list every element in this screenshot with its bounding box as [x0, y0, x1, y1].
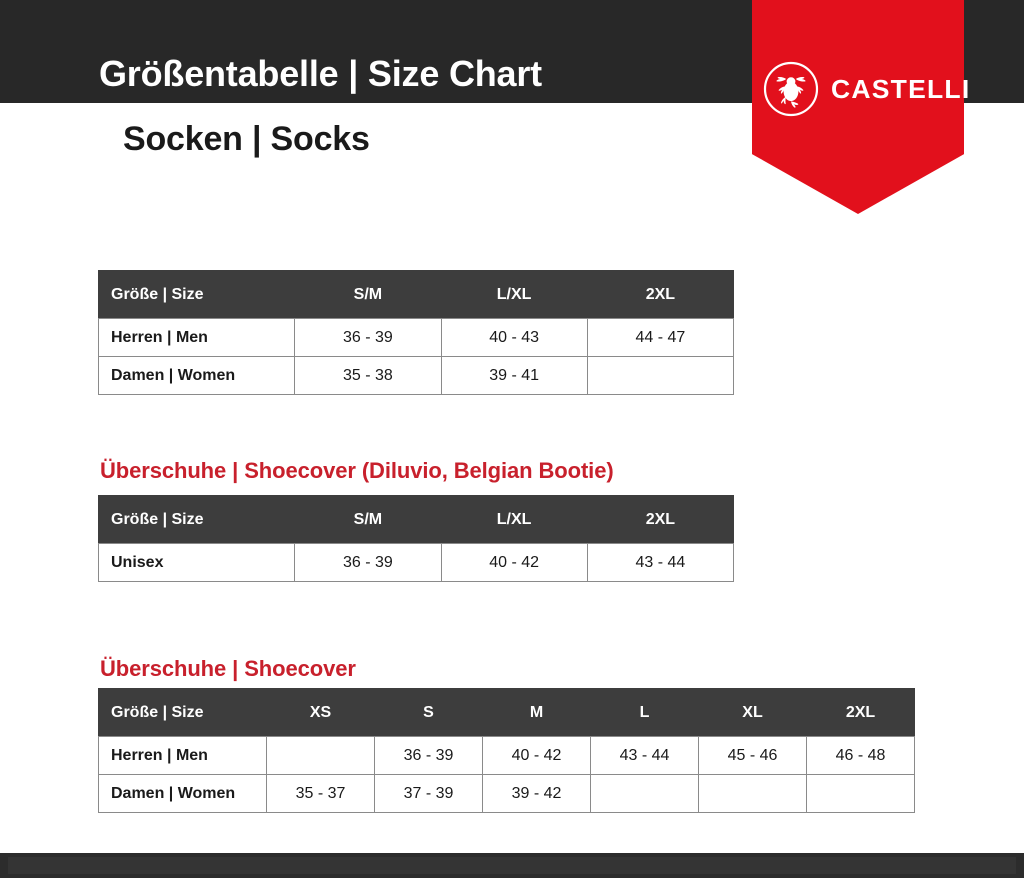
cell-men-sm: 36 - 39 [295, 319, 441, 357]
scorpion-icon [762, 60, 820, 118]
cell-men-xl: 45 - 46 [699, 737, 807, 775]
cell-women-2xl [587, 357, 733, 395]
row-label-women: Damen | Women [99, 775, 267, 813]
cell-unisex-2xl: 43 - 44 [587, 544, 733, 582]
cell-men-2xl: 46 - 48 [807, 737, 915, 775]
column-header-lxl: L/XL [441, 271, 587, 319]
cell-men-lxl: 40 - 43 [441, 319, 587, 357]
page-subtitle: Socken | Socks [123, 122, 370, 156]
column-header-sm: S/M [295, 496, 441, 544]
cell-women-xs: 35 - 37 [267, 775, 375, 813]
footer-inner-bar [8, 857, 1016, 874]
cell-women-l [591, 775, 699, 813]
table-row: Damen | Women 35 - 37 37 - 39 39 - 42 [99, 775, 915, 813]
cell-women-2xl [807, 775, 915, 813]
brand-logo: CASTELLI [762, 58, 958, 120]
column-header-xl: XL [699, 689, 807, 737]
cell-unisex-sm: 36 - 39 [295, 544, 441, 582]
cell-women-s: 37 - 39 [375, 775, 483, 813]
table-header-row: Größe | Size S/M L/XL 2XL [99, 271, 734, 319]
row-label-men: Herren | Men [99, 737, 267, 775]
column-header-size-label: Größe | Size [99, 496, 295, 544]
cell-women-m: 39 - 42 [483, 775, 591, 813]
column-header-size-label: Größe | Size [99, 271, 295, 319]
column-header-xs: XS [267, 689, 375, 737]
column-header-2xl: 2XL [587, 271, 733, 319]
cell-unisex-lxl: 40 - 42 [441, 544, 587, 582]
table-header-row: Größe | Size S/M L/XL 2XL [99, 496, 734, 544]
cell-women-sm: 35 - 38 [295, 357, 441, 395]
column-header-2xl: 2XL [587, 496, 733, 544]
page-title: Größentabelle | Size Chart [99, 56, 542, 92]
column-header-2xl: 2XL [807, 689, 915, 737]
table-row: Unisex 36 - 39 40 - 42 43 - 44 [99, 544, 734, 582]
cell-men-l: 43 - 44 [591, 737, 699, 775]
cell-men-xs [267, 737, 375, 775]
row-label-unisex: Unisex [99, 544, 295, 582]
cell-men-s: 36 - 39 [375, 737, 483, 775]
row-label-women: Damen | Women [99, 357, 295, 395]
column-header-m: M [483, 689, 591, 737]
brand-wordmark: CASTELLI [831, 76, 970, 102]
section-heading-shoecover: Überschuhe | Shoecover [100, 658, 356, 680]
column-header-l: L [591, 689, 699, 737]
column-header-size-label: Größe | Size [99, 689, 267, 737]
cell-women-xl [699, 775, 807, 813]
row-label-men: Herren | Men [99, 319, 295, 357]
cell-men-m: 40 - 42 [483, 737, 591, 775]
cell-men-2xl: 44 - 47 [587, 319, 733, 357]
table-row: Damen | Women 35 - 38 39 - 41 [99, 357, 734, 395]
socks-size-table: Größe | Size S/M L/XL 2XL Herren | Men 3… [98, 270, 734, 395]
table-row: Herren | Men 36 - 39 40 - 43 44 - 47 [99, 319, 734, 357]
shoecover-diluvio-size-table: Größe | Size S/M L/XL 2XL Unisex 36 - 39… [98, 495, 734, 582]
column-header-lxl: L/XL [441, 496, 587, 544]
shoecover-size-table: Größe | Size XS S M L XL 2XL Herren | Me… [98, 688, 915, 813]
cell-women-lxl: 39 - 41 [441, 357, 587, 395]
section-heading-shoecover-diluvio: Überschuhe | Shoecover (Diluvio, Belgian… [100, 460, 614, 482]
table-row: Herren | Men 36 - 39 40 - 42 43 - 44 45 … [99, 737, 915, 775]
table-header-row: Größe | Size XS S M L XL 2XL [99, 689, 915, 737]
column-header-s: S [375, 689, 483, 737]
column-header-sm: S/M [295, 271, 441, 319]
